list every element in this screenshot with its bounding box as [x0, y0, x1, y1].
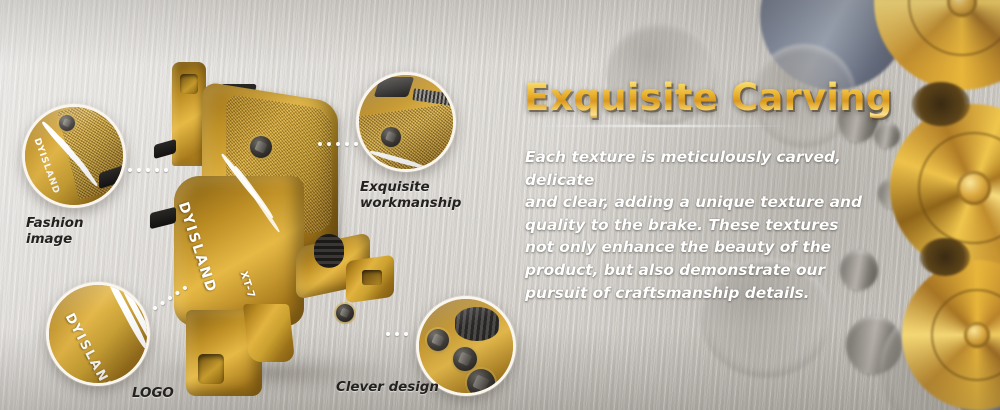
caliper-upper-arm-hole [180, 74, 198, 94]
page-title: Exquisite Carving [524, 76, 892, 119]
callout-logo-gloss [49, 285, 147, 383]
product-feature-banner: Exquisite Carving Each texture is meticu… [0, 0, 1000, 410]
callout-fashion-image-label: Fashion image [26, 216, 126, 248]
callout-logo-label: LOGO [132, 386, 174, 402]
title-underline-shine [526, 124, 844, 128]
caliper-rubber-boot [314, 234, 344, 268]
description-line-1: Each texture is meticulously carved, del… [525, 146, 897, 191]
callout-exquisite-workmanship: Exquisite workmanship [356, 72, 456, 172]
description-line-6: pursuit of craftsmanship details. [525, 282, 897, 305]
connector-dots-exquisite-workmanship [318, 142, 358, 146]
callout-logo-bubble[interactable]: DYISLAND [46, 282, 150, 386]
description-line-4: not only enhance the beauty of the [525, 236, 897, 259]
callout-clever-design-gloss [419, 299, 513, 393]
description-line-3: quality to the brake. These textures [525, 214, 897, 237]
description-text: Each texture is meticulously carved, del… [525, 146, 897, 304]
connector-dots-fashion-image [128, 168, 168, 172]
callout-fashion-image: DYISLAND Fashion image [22, 104, 126, 208]
callout-exquisite-workmanship-label: Exquisite workmanship [360, 180, 461, 212]
caliper-lug-hole [362, 270, 382, 285]
callout-clever-design: Clever design [416, 296, 516, 396]
callout-fashion-image-gloss [25, 107, 123, 205]
connector-dots-clever-design [386, 332, 408, 336]
callout-clever-design-label: Clever design [336, 380, 439, 396]
caliper-bolt-side [336, 304, 354, 322]
description-line-5: product, but also demonstrate our [525, 259, 897, 282]
callout-exquisite-workmanship-gloss [359, 75, 453, 169]
caliper-bolt-upper [250, 136, 272, 158]
callout-exquisite-workmanship-bubble[interactable] [356, 72, 456, 172]
caliper-mount-foot-slot [198, 354, 224, 384]
caliper-clip-lower [150, 207, 176, 229]
callout-logo: DYISLAND LOGO [46, 282, 150, 386]
description-line-2: and clear, adding a unique texture and [525, 191, 897, 214]
caliper-mount-tab [243, 304, 295, 362]
callout-fashion-image-bubble[interactable]: DYISLAND [22, 104, 126, 208]
